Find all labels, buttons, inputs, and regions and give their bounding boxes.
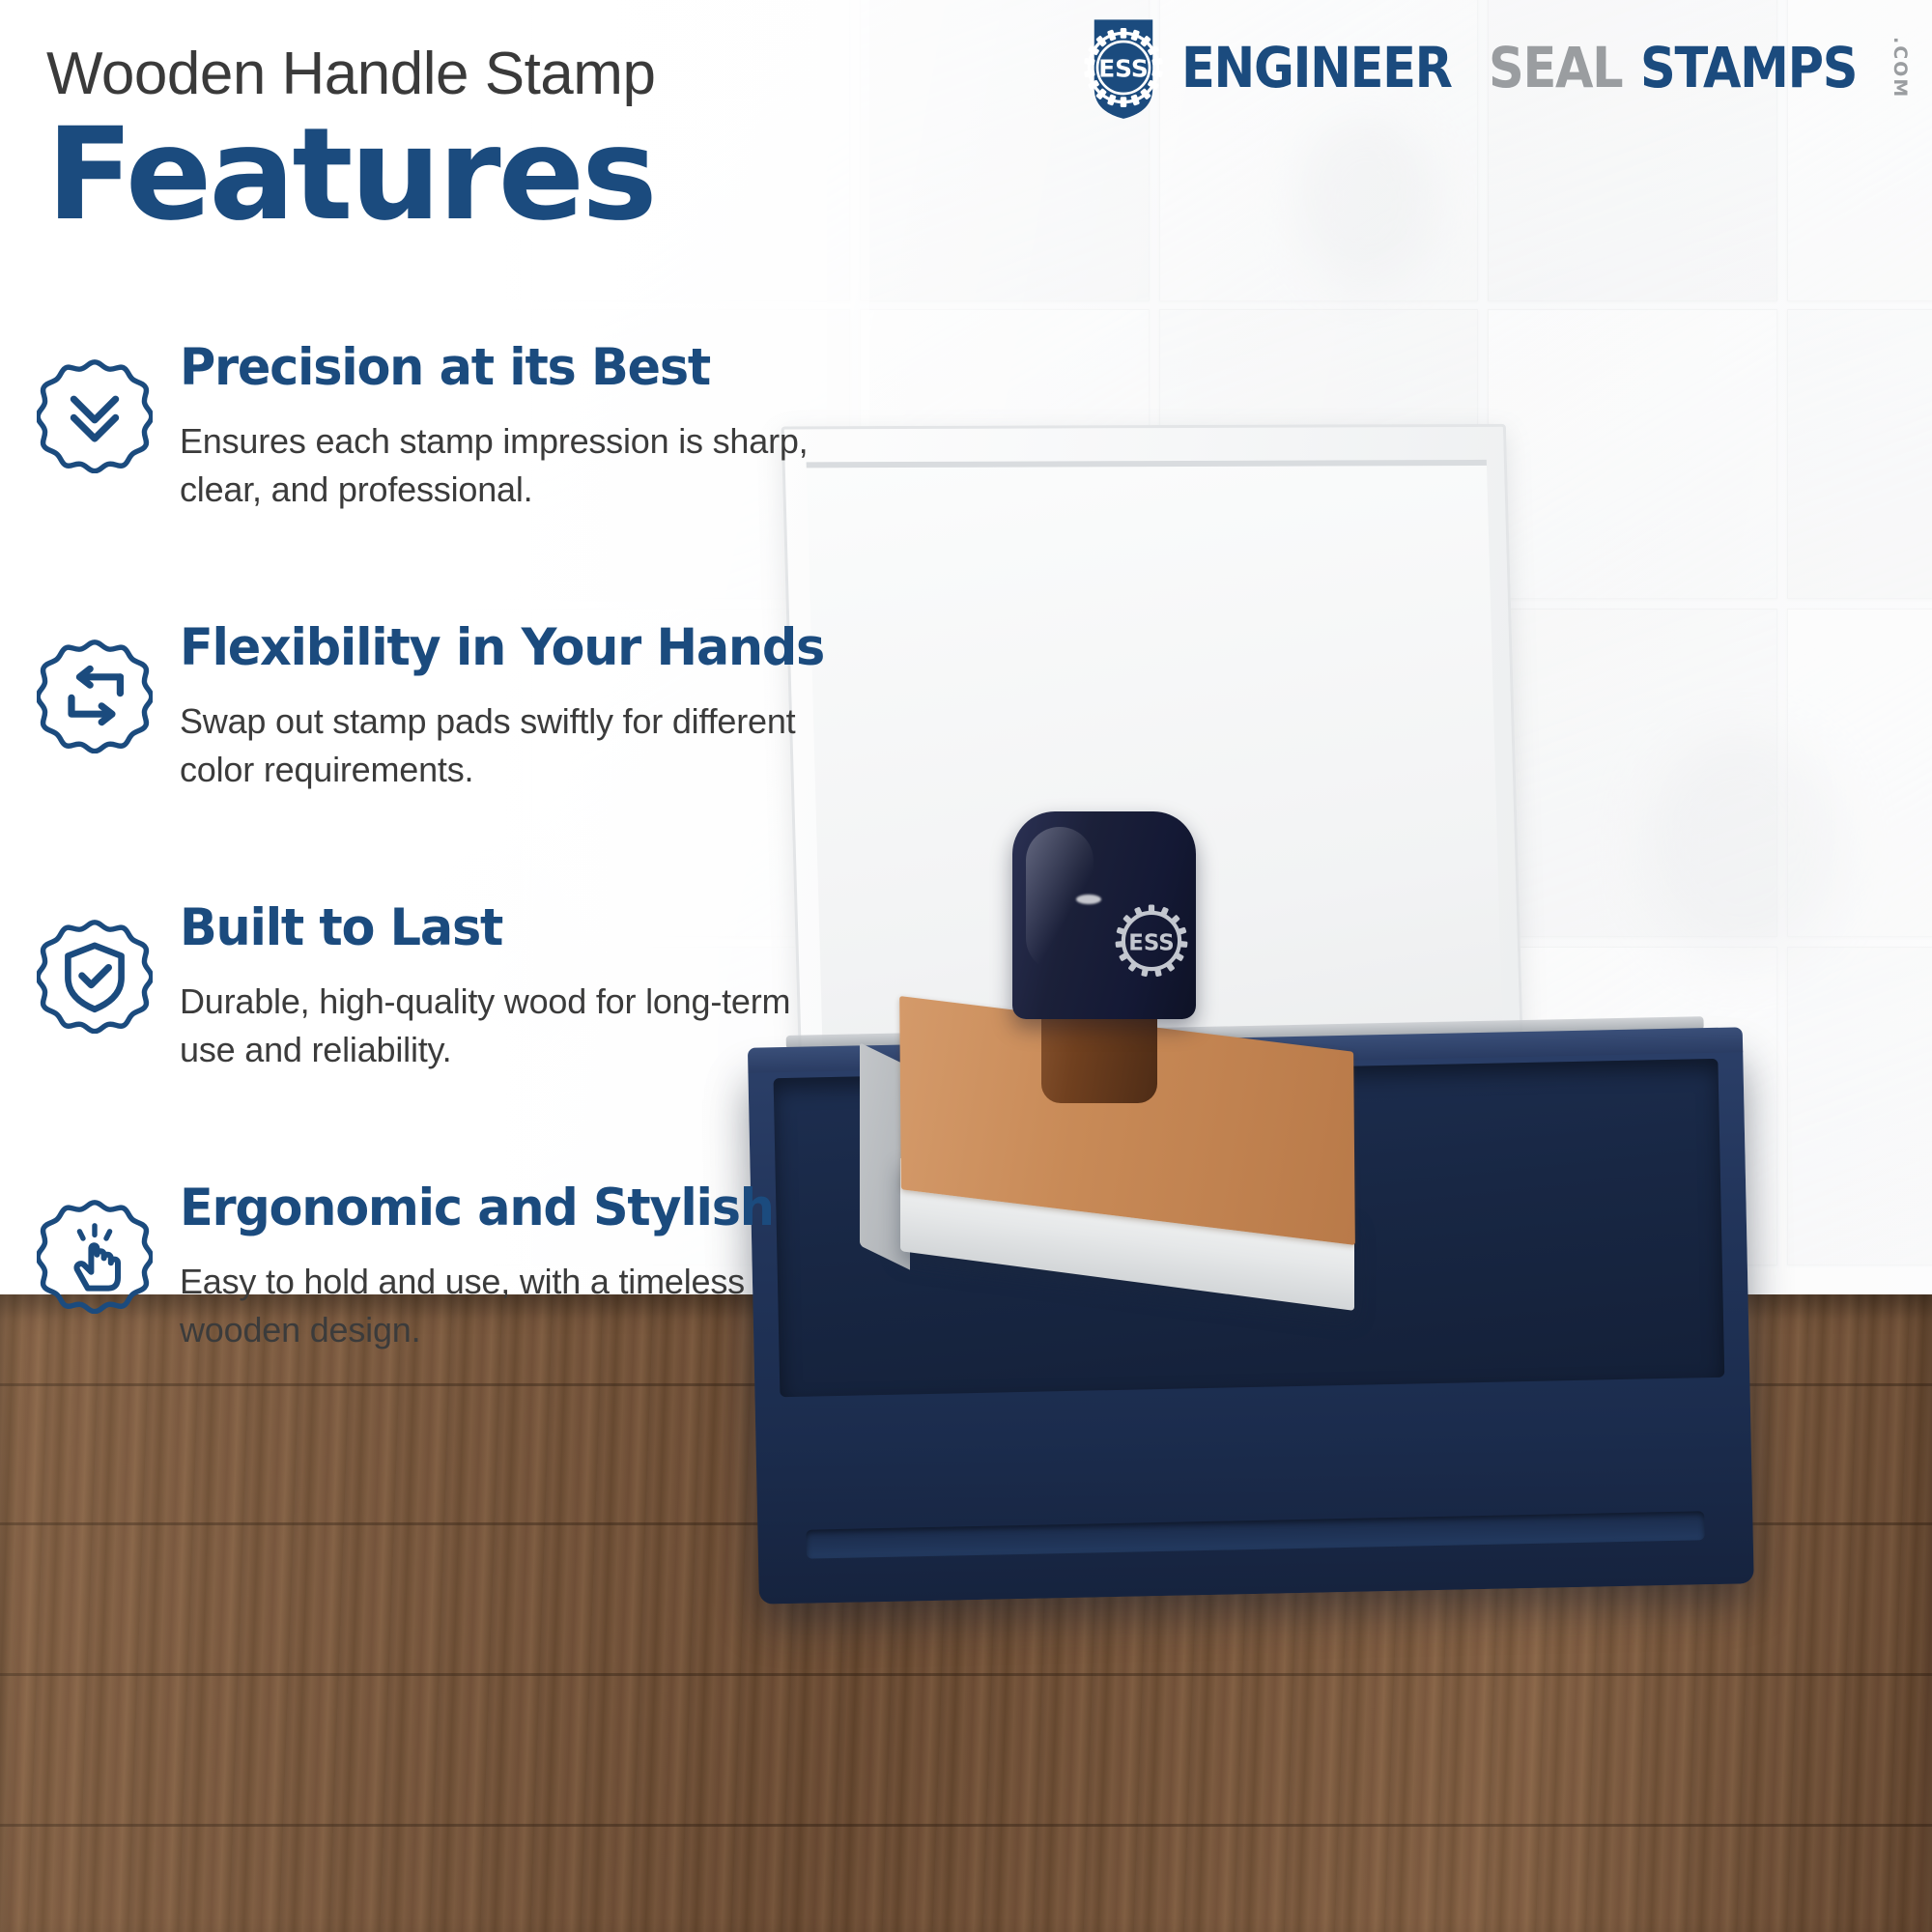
feature-description: Ensures each stamp impression is sharp, … [180, 417, 817, 513]
page-title: Features [46, 111, 974, 239]
feature-item: Ergonomic and Stylish Easy to hold and u… [33, 1180, 883, 1412]
feature-description: Swap out stamp pads swiftly for differen… [180, 697, 817, 793]
brand-logo[interactable]: ESS ENGINEER SEAL STAMPS .COM [1071, 15, 1909, 120]
feature-title: Ergonomic and Stylish [180, 1180, 855, 1236]
double-chevron-down-badge-icon [37, 357, 153, 473]
knob-ess-text: ESS [1128, 930, 1175, 955]
brand-wordmark: ENGINEER SEAL STAMPS .COM [1181, 37, 1909, 99]
ess-gear-logo-icon: ESS [1101, 891, 1202, 991]
feature-title: Precision at its Best [180, 340, 855, 396]
product-photo: ESS [734, 386, 1932, 1816]
feature-item: Built to Last Durable, high-quality wood… [33, 900, 883, 1132]
wordmark-stamps: STAMPS [1640, 40, 1857, 96]
wordmark-tld: .COM [1890, 37, 1909, 99]
feature-title: Built to Last [180, 900, 855, 956]
features-list: Precision at its Best Ensures each stamp… [33, 340, 883, 1461]
feature-item: Precision at its Best Ensures each stamp… [33, 340, 883, 572]
wordmark-engineer: ENGINEER [1181, 40, 1452, 96]
ess-shield-gear-icon: ESS [1071, 15, 1176, 120]
poster-stage: ESS Wooden Handle Stamp Features [0, 0, 1932, 1932]
wordmark-seal: SEAL [1489, 40, 1622, 96]
stamp-black-knob: ESS [1012, 811, 1196, 1019]
feature-title: Flexibility in Your Hands [180, 620, 855, 676]
shield-check-badge-icon [37, 918, 153, 1034]
feature-description: Durable, high-quality wood for long-term… [180, 978, 817, 1073]
tap-hand-badge-icon [37, 1198, 153, 1314]
feature-item: Flexibility in Your Hands Swap out stamp… [33, 620, 883, 852]
logo-mark-text: ESS [1098, 55, 1149, 83]
swap-arrows-badge-icon [37, 638, 153, 753]
page-header: Wooden Handle Stamp Features [46, 43, 974, 239]
feature-description: Easy to hold and use, with a timeless wo… [180, 1258, 817, 1353]
wooden-handle-stamp: ESS [821, 802, 1401, 1478]
page-subtitle: Wooden Handle Stamp [46, 43, 974, 105]
